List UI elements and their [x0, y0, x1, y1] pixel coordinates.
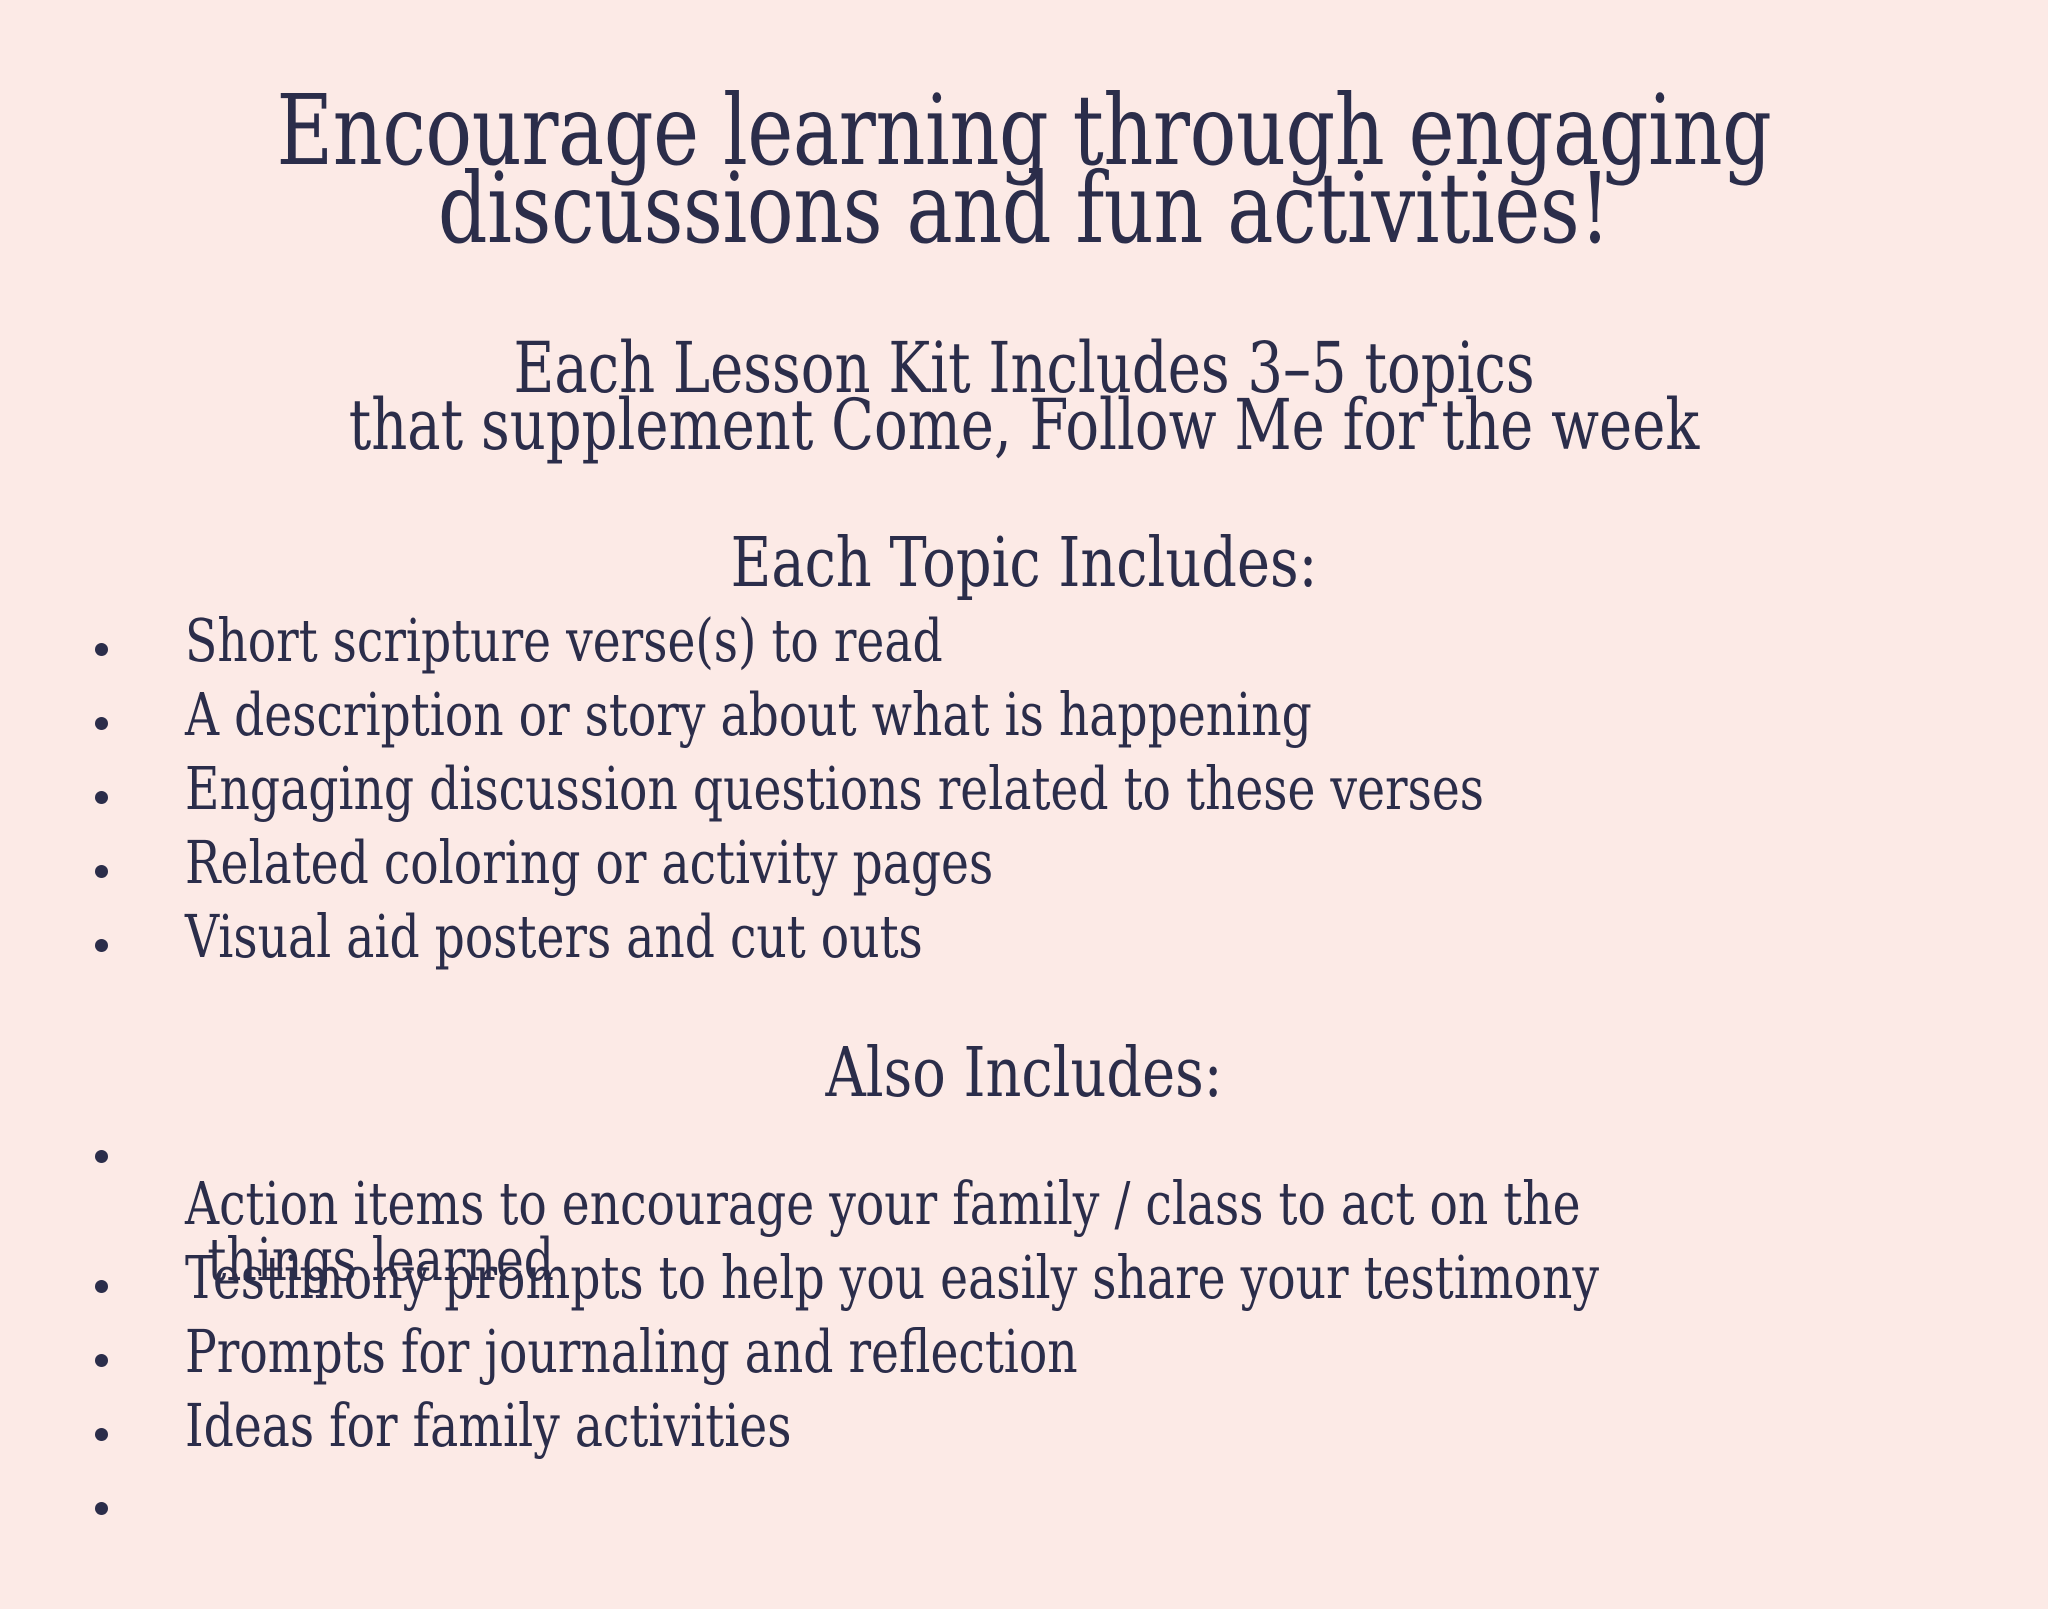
list-item: Short scripture verse(s) to read — [0, 613, 2048, 687]
bullet-dot-icon — [95, 643, 108, 656]
list-item-label: Ideas for family activities — [185, 1398, 1625, 1454]
list-item: Related coloring or activity pages — [0, 835, 2048, 909]
bullet-dot-icon — [95, 1150, 108, 1163]
bullet-dot-icon — [95, 865, 108, 878]
section-heading-each-topic-includes: Each Topic Includes: — [184, 530, 1863, 598]
list-item: Testimony prompts to help you easily sha… — [0, 1250, 2048, 1324]
bullet-dot-icon — [95, 1502, 108, 1515]
list-item: Prompts for journaling and reflection — [0, 1324, 2048, 1398]
list-item-label: Engaging discussion questions related to… — [185, 761, 1625, 817]
list-item: A description or story about what is hap… — [0, 687, 2048, 761]
bullet-dot-icon — [95, 717, 108, 730]
list-item-empty — [0, 1472, 2048, 1546]
list-item: Visual aid posters and cut outs — [0, 909, 2048, 983]
list-item-label: Related coloring or activity pages — [185, 835, 1625, 891]
list-item: Ideas for family activities — [0, 1398, 2048, 1472]
bullet-dot-icon — [95, 939, 108, 952]
bullet-dot-icon — [95, 791, 108, 804]
list-item-label: Visual aid posters and cut outs — [185, 909, 1625, 965]
page-title: Encourage learning through engaging disc… — [205, 92, 1843, 247]
slide-canvas: Encourage learning through engaging disc… — [0, 0, 2048, 1609]
list-item-label: Short scripture verse(s) to read — [185, 613, 1625, 669]
list-item-label: Testimony prompts to help you easily sha… — [185, 1250, 1625, 1306]
list-item-label: A description or story about what is hap… — [185, 687, 1625, 743]
bullet-dot-icon — [95, 1280, 108, 1293]
bullet-dot-icon — [95, 1428, 108, 1441]
bullet-list-also-includes: Action items to encourage your family / … — [0, 1120, 2048, 1546]
list-item: Action items to encourage your family / … — [0, 1120, 2048, 1250]
list-item: Engaging discussion questions related to… — [0, 761, 2048, 835]
bullet-dot-icon — [95, 1354, 108, 1367]
section-heading-also-includes: Also Includes: — [184, 1040, 1863, 1108]
bullet-list-each-topic-includes: Short scripture verse(s) to read A descr… — [0, 613, 2048, 983]
list-item-label: Prompts for journaling and reflection — [185, 1324, 1625, 1380]
page-subtitle: Each Lesson Kit Includes 3–5 topics that… — [205, 340, 1843, 455]
